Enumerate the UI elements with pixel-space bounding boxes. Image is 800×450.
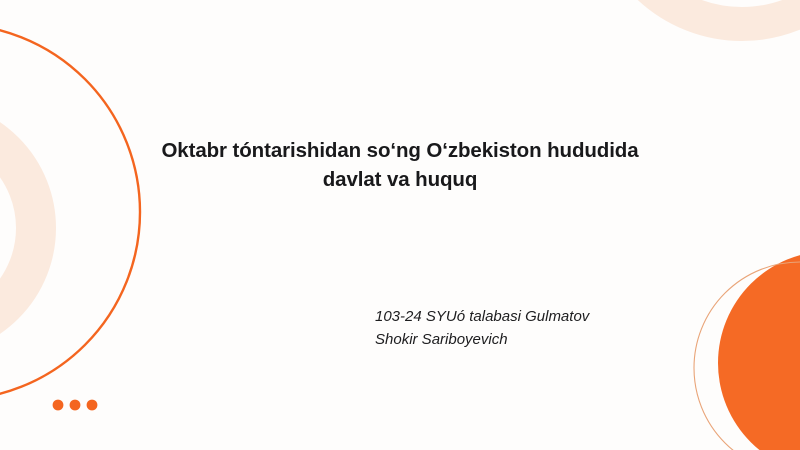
title-block: Oktabr tóntarishidan so‘ng O‘zbekiston h…	[140, 136, 660, 194]
slide-title: Oktabr tóntarishidan so‘ng O‘zbekiston h…	[140, 136, 660, 194]
subtitle-block: 103-24 SYUó talabasi Gulmatov Shokir Sar…	[375, 305, 675, 352]
slide-content: Oktabr tóntarishidan so‘ng O‘zbekiston h…	[0, 0, 800, 450]
presentation-slide: Oktabr tóntarishidan so‘ng O‘zbekiston h…	[0, 0, 800, 450]
slide-subtitle-author: 103-24 SYUó talabasi Gulmatov Shokir Sar…	[375, 305, 675, 352]
